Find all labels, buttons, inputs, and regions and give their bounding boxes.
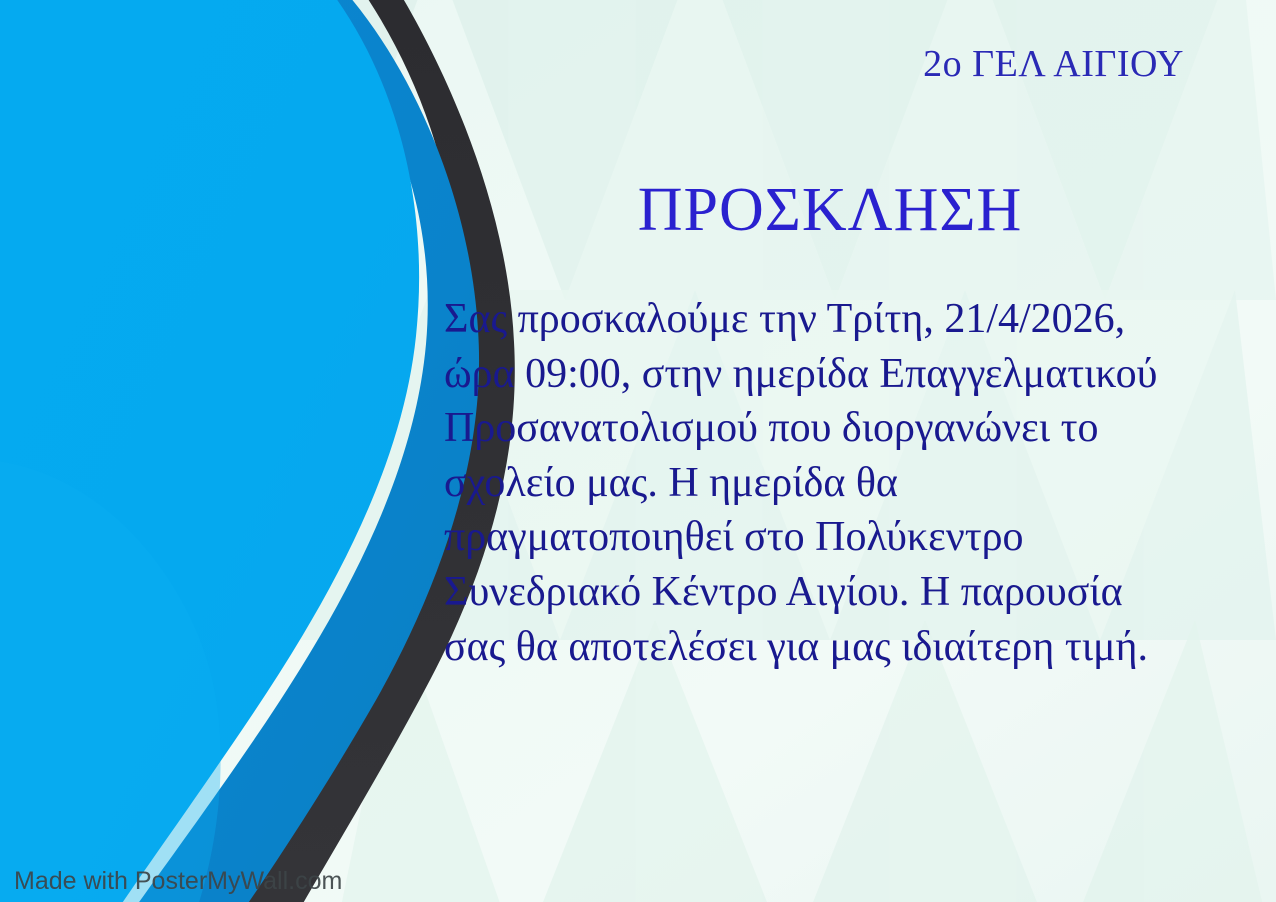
postermywall-watermark: Made with PosterMyWall.com <box>14 869 342 894</box>
invitation-body-text: Σας προσκαλούμε την Τρίτη, 21/4/2026,ώρα… <box>444 292 1234 674</box>
school-name: 2ο ΓΕΛ ΑΙΓΙΟΥ <box>923 44 1184 86</box>
poster-canvas: 2ο ΓΕΛ ΑΙΓΙΟΥ ΠΡΟΣΚΛΗΣΗ Σας προσκαλούμε … <box>0 0 1276 902</box>
page-title: ΠΡΟΣΚΛΗΣΗ <box>450 178 1210 243</box>
